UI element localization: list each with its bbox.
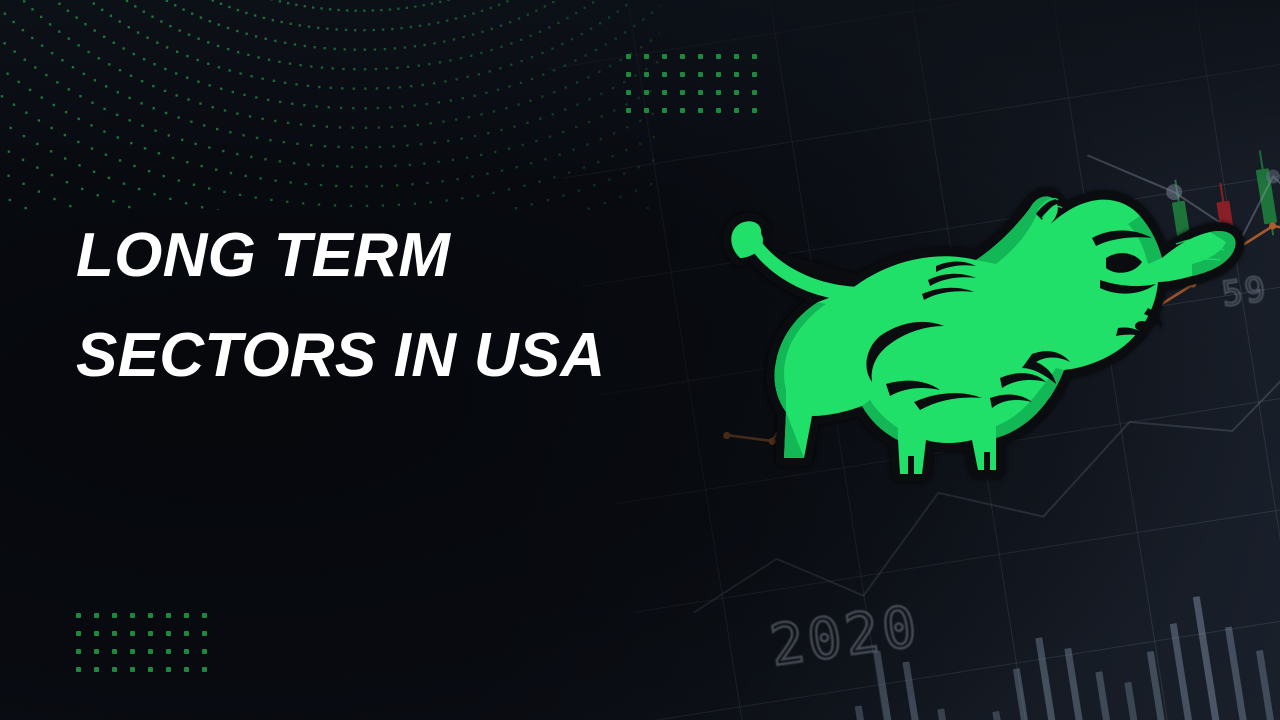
grid-dot (112, 649, 117, 654)
grid-dot (166, 667, 171, 672)
grid-dot (734, 54, 739, 59)
poster-canvas: 2020 59 21. (0, 0, 1280, 720)
grid-dot (680, 54, 685, 59)
grid-dot (752, 72, 757, 77)
grid-dot (644, 90, 649, 95)
grid-dot (202, 667, 207, 672)
grid-dot (662, 72, 667, 77)
dot-grid-bottom (76, 613, 207, 672)
grid-dot (680, 72, 685, 77)
grid-dot (662, 54, 667, 59)
grid-dot (76, 667, 81, 672)
grid-dot (202, 649, 207, 654)
grid-dot (94, 631, 99, 636)
bull-silhouette (731, 196, 1235, 474)
grid-dot (130, 613, 135, 618)
grid-dot (76, 613, 81, 618)
grid-dot (644, 54, 649, 59)
grid-dot (734, 108, 739, 113)
grid-dot (752, 90, 757, 95)
page-title-line-1: LONG TERM (76, 206, 716, 306)
grid-dot (698, 54, 703, 59)
grid-dot (202, 631, 207, 636)
grid-dot (698, 72, 703, 77)
page-title-line-2: SECTORS IN USA (76, 306, 716, 406)
grid-dot (734, 90, 739, 95)
grid-dot (148, 667, 153, 672)
grid-dot (94, 667, 99, 672)
grid-dot (716, 90, 721, 95)
grid-dot (752, 54, 757, 59)
grid-dot (76, 649, 81, 654)
page-title: LONG TERM SECTORS IN USA (76, 206, 716, 406)
bull-mascot (700, 140, 1260, 540)
grid-dot (94, 613, 99, 618)
grid-dot (94, 649, 99, 654)
grid-dot (716, 72, 721, 77)
grid-dot (644, 72, 649, 77)
grid-dot (130, 667, 135, 672)
dot-grid-top (626, 54, 757, 113)
grid-dot (626, 72, 631, 77)
grid-dot (698, 108, 703, 113)
grid-dot (112, 613, 117, 618)
grid-dot (734, 72, 739, 77)
grid-dot (130, 631, 135, 636)
grid-dot (184, 631, 189, 636)
grid-dot (166, 649, 171, 654)
grid-dot (752, 108, 757, 113)
grid-dot (184, 613, 189, 618)
grid-dot (716, 54, 721, 59)
grid-dot (680, 108, 685, 113)
grid-dot (148, 631, 153, 636)
grid-dot (184, 667, 189, 672)
grid-dot (680, 90, 685, 95)
grid-dot (130, 649, 135, 654)
grid-dot (166, 613, 171, 618)
grid-dot (698, 90, 703, 95)
grid-dot (662, 90, 667, 95)
grid-dot (202, 613, 207, 618)
grid-dot (716, 108, 721, 113)
grid-dot (662, 108, 667, 113)
grid-dot (644, 108, 649, 113)
grid-dot (148, 613, 153, 618)
grid-dot (184, 649, 189, 654)
grid-dot (112, 667, 117, 672)
grid-dot (626, 108, 631, 113)
grid-dot (76, 631, 81, 636)
grid-dot (626, 90, 631, 95)
grid-dot (166, 631, 171, 636)
grid-dot (626, 54, 631, 59)
grid-dot (148, 649, 153, 654)
grid-dot (112, 631, 117, 636)
